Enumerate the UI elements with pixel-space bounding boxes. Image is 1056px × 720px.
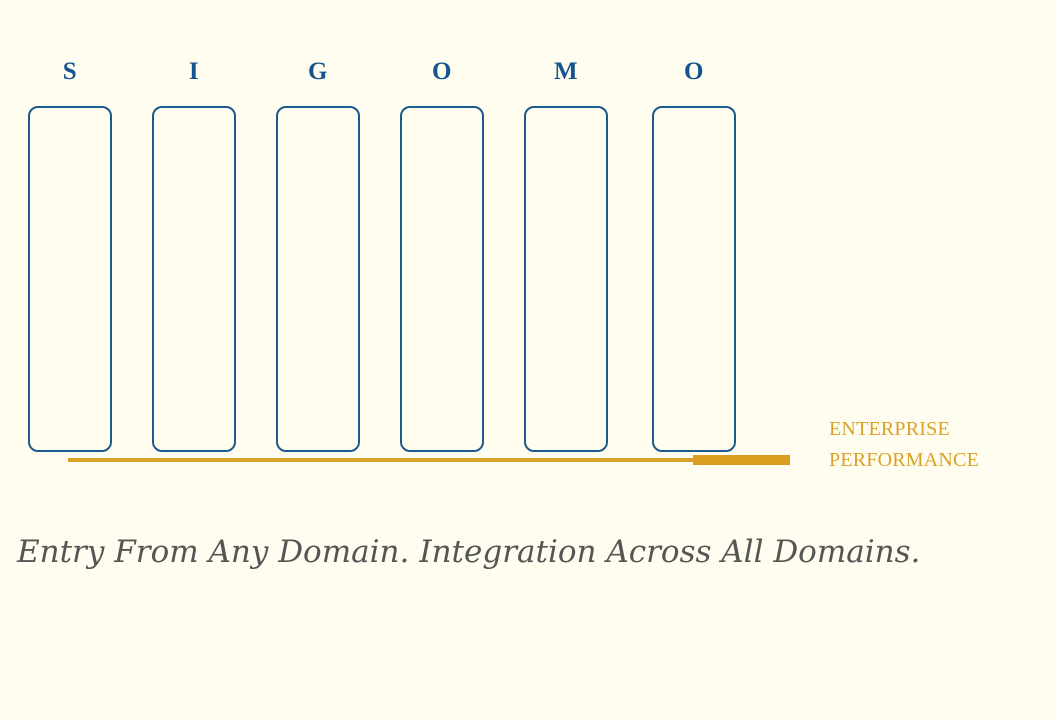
pillar-box-1[interactable]: [28, 106, 112, 452]
column-letters: S I G O M O: [0, 56, 1056, 92]
pillar-box-5[interactable]: [524, 106, 608, 452]
tagline-part-2: Integration Across All Domains.: [419, 534, 920, 570]
pillar-box-4[interactable]: [400, 106, 484, 452]
column-letter-1: S: [28, 56, 112, 88]
pillar-box-3[interactable]: [276, 106, 360, 452]
tagline-part-1: Entry From Any Domain.: [17, 534, 409, 570]
enterprise-performance-line2: PERFORMANCE: [829, 445, 1044, 476]
column-letter-6: O: [652, 56, 736, 88]
baseline-accent-segment: [693, 455, 790, 465]
column-letter-5: M: [524, 56, 608, 88]
pillar-box-6[interactable]: [652, 106, 736, 452]
pillar-box-2[interactable]: [152, 106, 236, 452]
tagline: Entry From Any Domain.Integration Across…: [17, 530, 1037, 574]
column-letter-3: G: [276, 56, 360, 88]
slide-canvas: S I G O M O ENTERPRISE PERFORMANCE Entry…: [0, 0, 1056, 720]
pillar-group: [0, 106, 1056, 454]
baseline-rule: [68, 458, 694, 462]
enterprise-performance-line1: ENTERPRISE: [829, 414, 1044, 445]
enterprise-performance-label: ENTERPRISE PERFORMANCE: [829, 414, 1044, 476]
column-letter-2: I: [152, 56, 236, 88]
column-letter-4: O: [400, 56, 484, 88]
